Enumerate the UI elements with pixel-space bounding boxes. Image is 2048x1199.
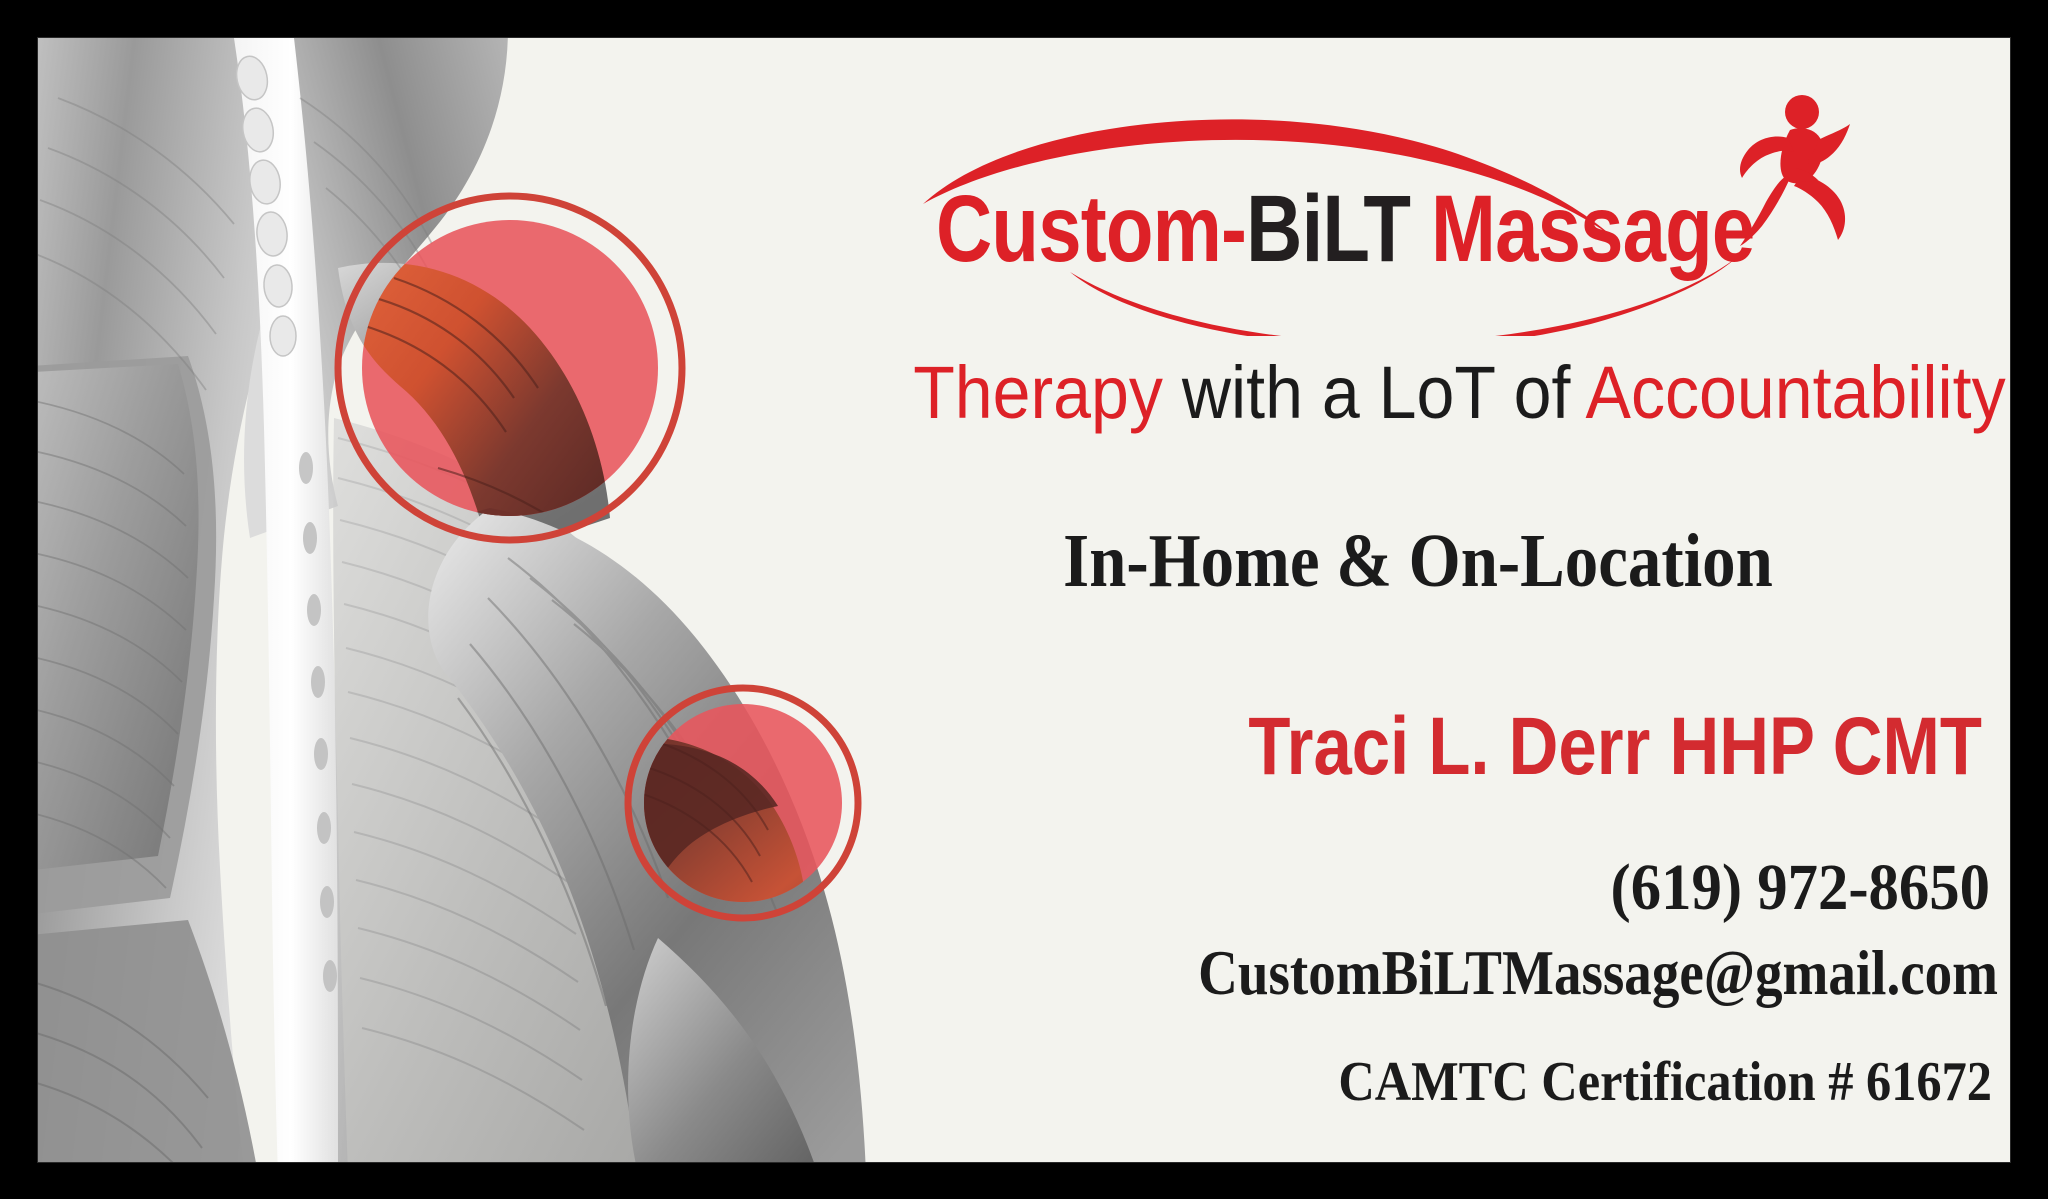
tagline-word-connector: with a LoT of bbox=[1163, 351, 1586, 434]
phone-number[interactable]: (619) 972-8650 bbox=[949, 850, 1990, 926]
anatomy-svg bbox=[38, 38, 938, 1162]
business-card: Custom-BiLT Massage bbox=[37, 37, 2011, 1163]
tagline-word-accountability: Accountability bbox=[1586, 351, 2006, 434]
back-shoulder-muscle-anatomy-illustration bbox=[38, 38, 938, 1162]
running-man-icon bbox=[1738, 90, 1868, 250]
logo-lockup: Custom-BiLT Massage bbox=[858, 86, 1978, 336]
service-type-line: In-Home & On-Location bbox=[934, 518, 1902, 605]
logo-word-massage: Massage bbox=[1410, 176, 1754, 282]
practitioner-name: Traci L. Derr HHP CMT bbox=[1038, 700, 1982, 794]
tagline: Therapy with a LoT of Accountability bbox=[913, 350, 1953, 435]
logo-word-bilt: BiLT bbox=[1246, 176, 1410, 282]
email-address[interactable]: CustomBiLTMassage@gmail.com bbox=[1018, 936, 1998, 1010]
logo-word-custom: Custom- bbox=[936, 176, 1246, 282]
card-outer-frame: Custom-BiLT Massage bbox=[0, 0, 2048, 1199]
card-text-content: Custom-BiLT Massage bbox=[858, 38, 2011, 1162]
logo-wordmark: Custom-BiLT Massage bbox=[936, 182, 1754, 277]
certification-number: CAMTC Certification # 61672 bbox=[971, 1050, 1992, 1114]
tagline-word-therapy: Therapy bbox=[913, 351, 1163, 434]
